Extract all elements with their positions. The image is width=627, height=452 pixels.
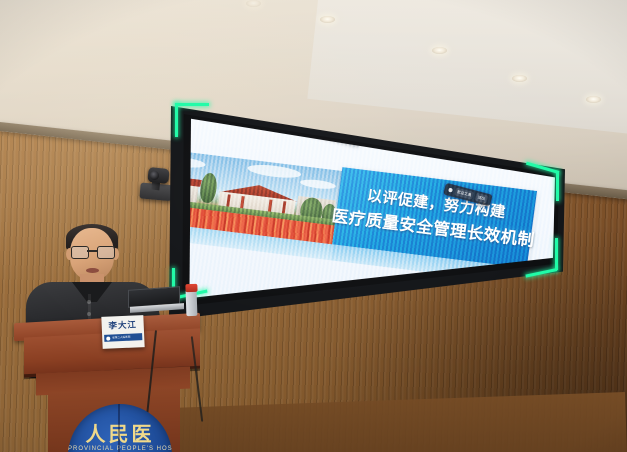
glasses-bridge [87, 250, 97, 252]
nameplate-org-bar: 省第二人民医院 [104, 333, 142, 342]
hospital-logo-icon [106, 336, 110, 340]
pen-icon[interactable] [448, 188, 453, 193]
eyeglasses-icon [71, 246, 113, 258]
share-status-icon [294, 121, 299, 126]
presenter-laptop[interactable] [128, 288, 184, 314]
water-bottle [186, 290, 198, 316]
shirt-button [87, 300, 91, 304]
nameplate-org: 省第二人民医院 [112, 335, 130, 340]
led-video-wall[interactable]: 以评促建，努力构建 医疗质量安全管理长效机制 李大江 2024年7月 正在共享屏… [167, 98, 567, 328]
lens-right [97, 246, 115, 259]
screenshot-root: 以评促建，努力构建 医疗质量安全管理长效机制 李大江 2024年7月 正在共享屏… [0, 0, 627, 452]
lens-left [71, 246, 89, 259]
nameplate-name: 李大江 [108, 318, 137, 331]
mouth [86, 268, 99, 273]
emblem-text: 人民医 [68, 418, 172, 447]
chat-input-bar[interactable]: 说点什么... 发送 [167, 235, 169, 260]
emblem-seam [118, 404, 120, 452]
exit-annotation-button[interactable]: 退出 [475, 193, 488, 204]
shirt-button [87, 312, 91, 316]
bottle-cap [185, 284, 197, 292]
annotation-label[interactable]: 批注工具 [454, 187, 474, 199]
lectern-nameplate: 李大江 省第二人民医院 [101, 315, 144, 349]
emblem-subtext: PROVINCIAL PEOPLE'S HOSPITAL [68, 446, 172, 452]
